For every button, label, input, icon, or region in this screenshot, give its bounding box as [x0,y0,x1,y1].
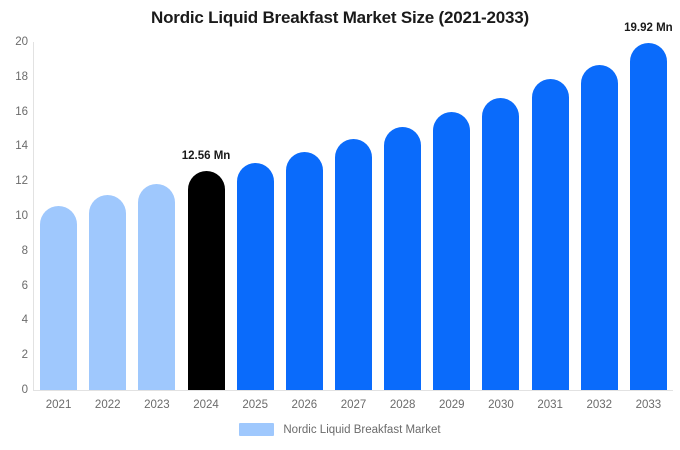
chart-legend: Nordic Liquid Breakfast Market [0,423,680,436]
bar-2024[interactable] [188,171,225,390]
x-axis-tick-label-2032: 2032 [586,399,612,411]
y-axis-tick-label: 10 [2,210,28,222]
x-axis-tick-label-2021: 2021 [46,399,72,411]
bar-2023[interactable] [138,184,175,390]
plot-area: 02468101214161820 2021202220232024202520… [0,0,680,450]
bar-2029[interactable] [433,112,470,390]
bar-2033[interactable] [630,43,667,390]
bar-2025[interactable] [237,163,274,390]
bar-2031[interactable] [532,79,569,390]
bar-2026[interactable] [286,152,323,390]
x-axis-tick-label-2025: 2025 [242,399,268,411]
bar-chart: Nordic Liquid Breakfast Market Size (202… [0,0,680,450]
y-axis-tick-label: 18 [2,71,28,83]
y-axis-tick-label: 0 [2,384,28,396]
legend-label-nordic-liquid-breakfast-market: Nordic Liquid Breakfast Market [283,424,440,436]
y-axis-line [33,42,34,390]
bar-2021[interactable] [40,206,77,390]
y-axis-tick-label: 4 [2,314,28,326]
bar-2030[interactable] [482,98,519,390]
bar-2028[interactable] [384,127,421,390]
x-axis-line [33,390,673,391]
bar-value-label-2024: 12.56 Mn [182,150,231,162]
x-axis-tick-label-2031: 2031 [537,399,563,411]
x-axis-tick-label-2024: 2024 [193,399,219,411]
x-axis-tick-label-2028: 2028 [390,399,416,411]
y-axis-tick-label: 8 [2,245,28,257]
y-axis-tick-label: 20 [2,36,28,48]
x-axis-tick-label-2026: 2026 [292,399,318,411]
bar-2027[interactable] [335,139,372,390]
y-axis-tick-label: 6 [2,280,28,292]
bar-2032[interactable] [581,65,618,390]
y-axis-tick-label: 12 [2,175,28,187]
x-axis-tick-label-2030: 2030 [488,399,514,411]
x-axis-tick-label-2033: 2033 [636,399,662,411]
x-axis-tick-label-2029: 2029 [439,399,465,411]
y-axis-tick-label: 16 [2,106,28,118]
y-axis-tick-label: 2 [2,349,28,361]
bar-value-label-2033: 19.92 Mn [624,22,673,34]
legend-swatch-nordic-liquid-breakfast-market [239,423,274,436]
y-axis-tick-label: 14 [2,140,28,152]
x-axis-tick-label-2027: 2027 [341,399,367,411]
x-axis-tick-label-2023: 2023 [144,399,170,411]
x-axis-tick-label-2022: 2022 [95,399,121,411]
bar-2022[interactable] [89,195,126,390]
